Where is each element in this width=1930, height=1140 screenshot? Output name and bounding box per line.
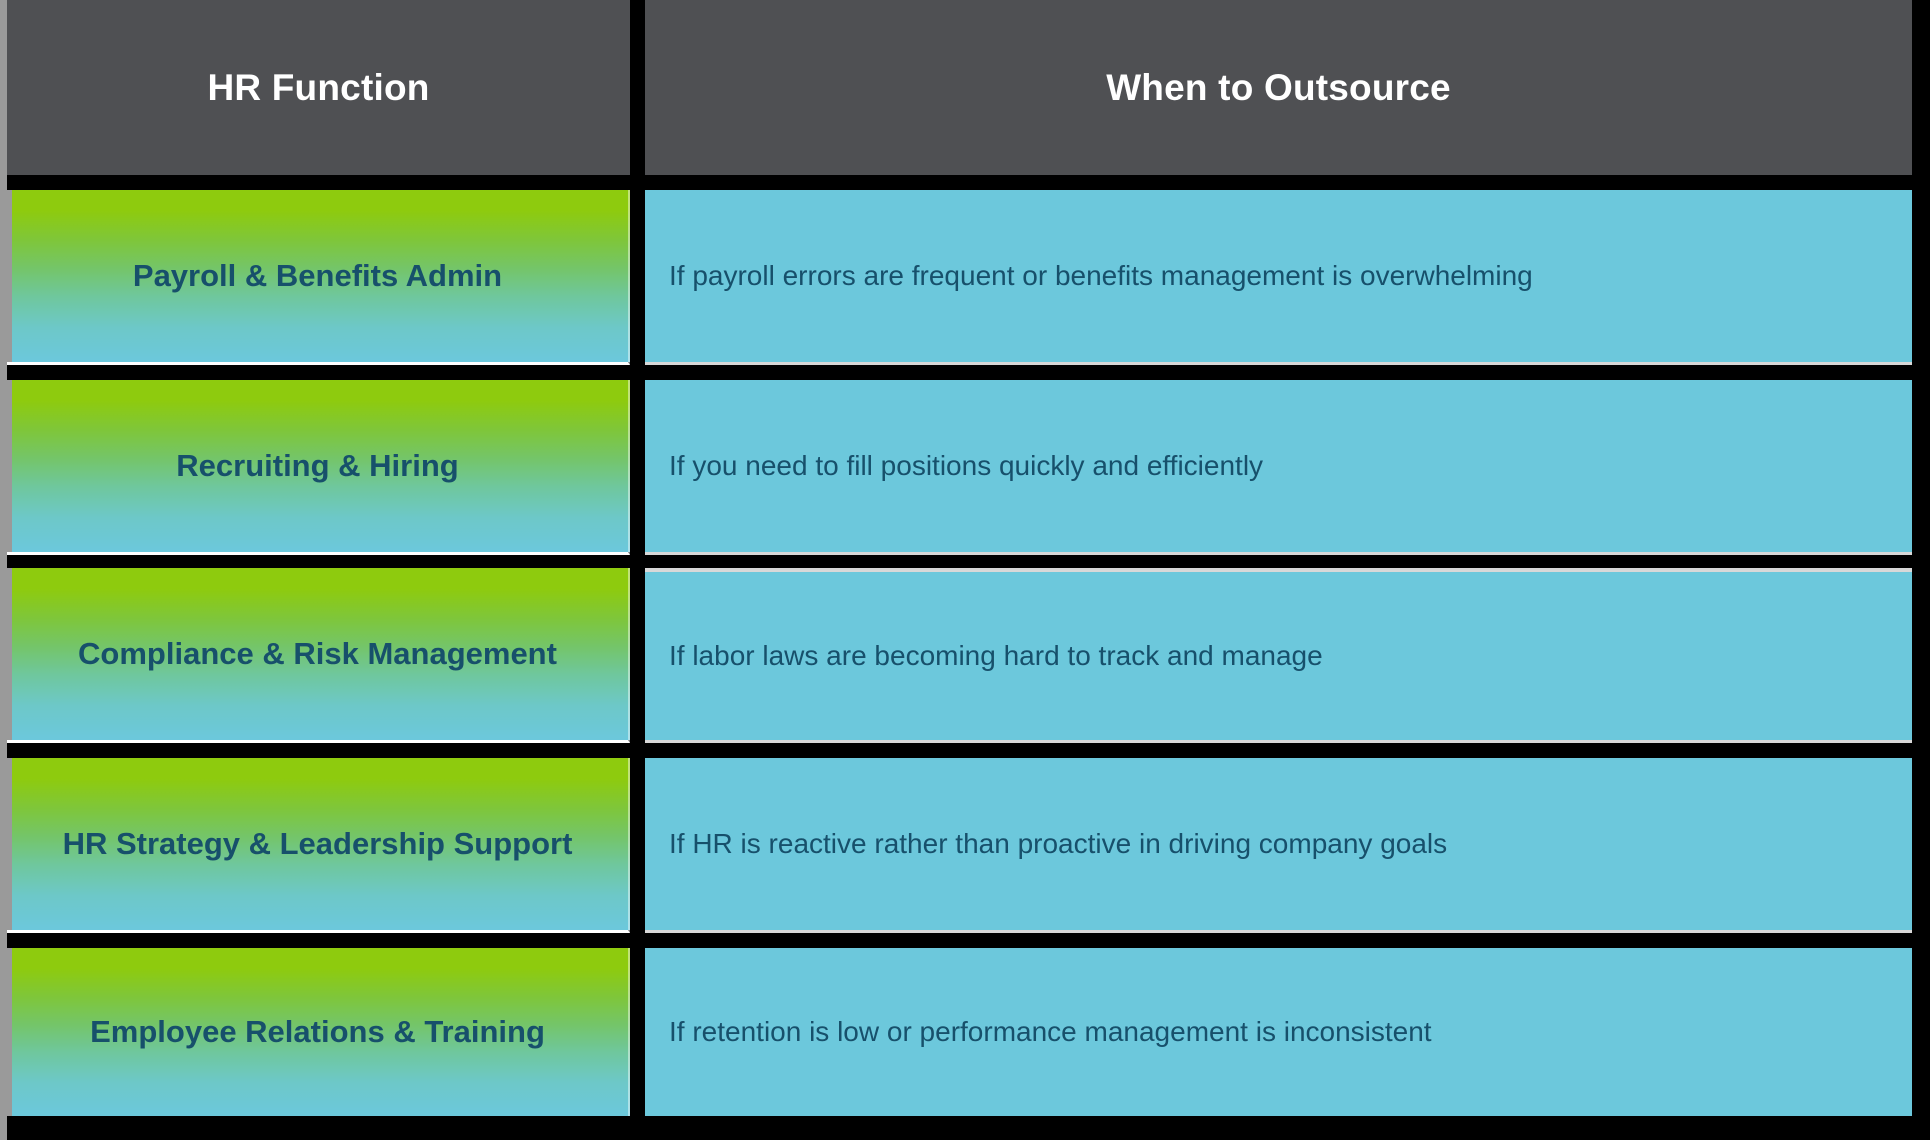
cell-left-edge (7, 568, 12, 740)
column-header-when-to-outsource-label: When to Outsource (1106, 67, 1451, 109)
column-gap (630, 190, 645, 365)
column-header-hr-function: HR Function (7, 0, 630, 175)
column-gap (630, 948, 645, 1116)
table-row: HR Strategy & Leadership Support If HR i… (0, 758, 1930, 933)
cell-when-to-outsource: If payroll errors are frequent or benefi… (645, 190, 1912, 365)
cell-when-to-outsource-text: If labor laws are becoming hard to track… (669, 636, 1323, 677)
cell-when-to-outsource: If you need to fill positions quickly an… (645, 380, 1912, 555)
header-column-gap (630, 0, 645, 175)
left-edge-sliver (0, 0, 7, 1140)
table-header-row: HR Function When to Outsource (0, 0, 1930, 175)
cell-hr-function: Recruiting & Hiring (7, 380, 630, 555)
column-gap (630, 758, 645, 933)
cell-left-edge (7, 758, 12, 930)
cell-hr-function-text: Payroll & Benefits Admin (133, 256, 502, 295)
row-gap (0, 365, 1930, 380)
cell-hr-function-text: Compliance & Risk Management (78, 634, 557, 673)
cell-hr-function: Payroll & Benefits Admin (7, 190, 630, 365)
cell-when-to-outsource-text: If HR is reactive rather than proactive … (669, 824, 1447, 865)
table-row: Recruiting & Hiring If you need to fill … (0, 380, 1930, 555)
cell-hr-function-text: HR Strategy & Leadership Support (63, 824, 573, 863)
column-gap (630, 568, 645, 743)
column-header-hr-function-label: HR Function (207, 67, 429, 109)
row-gap (0, 175, 1930, 190)
cell-left-edge (7, 380, 12, 552)
table-row: Employee Relations & Training If retenti… (0, 948, 1930, 1116)
column-gap (630, 380, 645, 555)
cell-when-to-outsource: If retention is low or performance manag… (645, 948, 1912, 1116)
hr-outsourcing-table: HR Function When to Outsource Payroll & … (0, 0, 1930, 1116)
cell-hr-function: Compliance & Risk Management (7, 568, 630, 743)
cell-hr-function: Employee Relations & Training (7, 948, 630, 1116)
column-header-when-to-outsource: When to Outsource (645, 0, 1912, 175)
cell-hr-function-text: Recruiting & Hiring (176, 446, 458, 485)
cell-left-edge (7, 190, 12, 362)
table-row: Compliance & Risk Management If labor la… (0, 568, 1930, 743)
table-row: Payroll & Benefits Admin If payroll erro… (0, 190, 1930, 365)
cell-when-to-outsource-text: If retention is low or performance manag… (669, 1012, 1432, 1053)
cell-hr-function-text: Employee Relations & Training (90, 1012, 545, 1051)
table-screenshot: HR Function When to Outsource Payroll & … (0, 0, 1930, 1140)
cell-when-to-outsource: If labor laws are becoming hard to track… (645, 568, 1912, 743)
cell-when-to-outsource: If HR is reactive rather than proactive … (645, 758, 1912, 933)
row-gap (0, 555, 1930, 568)
row-gap (0, 933, 1930, 948)
row-gap (0, 743, 1930, 758)
cell-hr-function: HR Strategy & Leadership Support (7, 758, 630, 933)
cell-when-to-outsource-text: If payroll errors are frequent or benefi… (669, 256, 1533, 297)
cell-left-edge (7, 948, 12, 1116)
cell-when-to-outsource-text: If you need to fill positions quickly an… (669, 446, 1263, 487)
